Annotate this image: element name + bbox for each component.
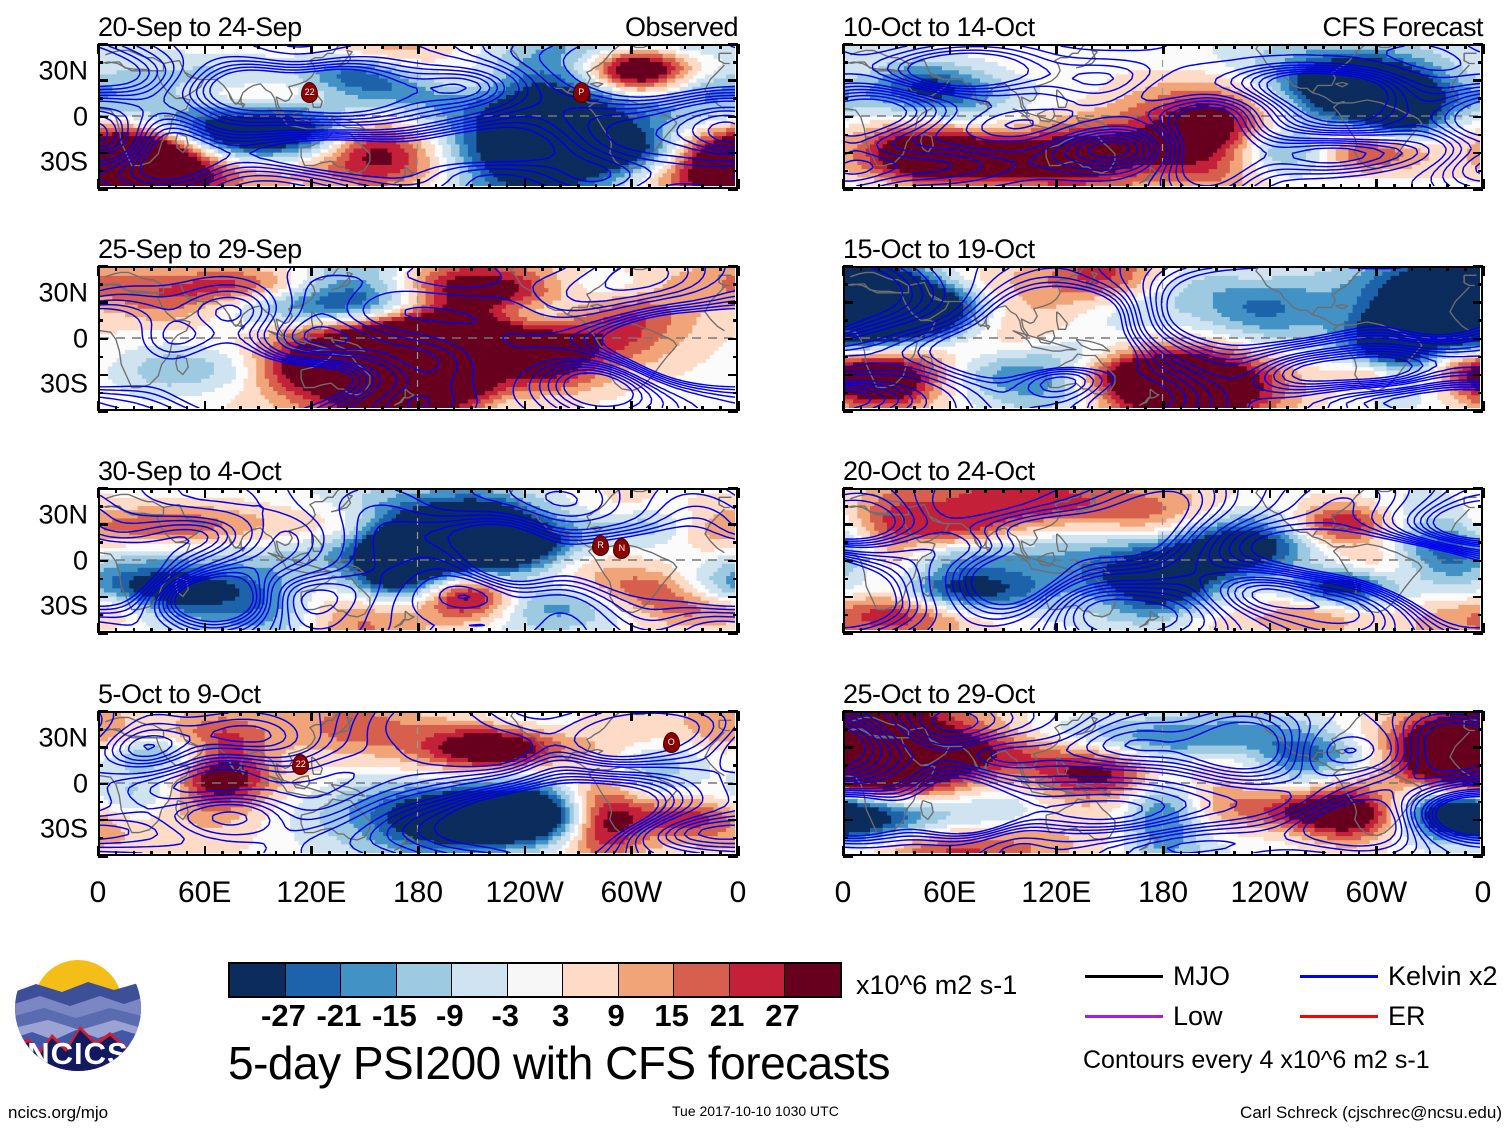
axis-tick (843, 746, 853, 749)
axis-tick (728, 79, 738, 82)
storm-marker[interactable]: P (573, 82, 590, 103)
axis-tick (1055, 488, 1058, 498)
axis-tick (1473, 783, 1483, 786)
axis-tick (984, 851, 987, 856)
axis-tick (895, 488, 898, 493)
axis-tick (648, 184, 651, 189)
map-panel: 10-Oct to 14-OctCFS Forecast (843, 44, 1483, 189)
legend-label: Low (1173, 1003, 1223, 1030)
colorbar-swatch (563, 964, 619, 996)
axis-tick (1020, 44, 1023, 49)
axis-tick (842, 488, 845, 498)
axis-tick (257, 628, 260, 633)
axis-tick (1144, 851, 1147, 856)
axis-tick (666, 184, 669, 189)
axis-tick (931, 266, 934, 271)
axis-tick (843, 578, 848, 581)
axis-tick (310, 401, 313, 411)
axis-tick (275, 44, 278, 49)
axis-tick (1473, 265, 1483, 268)
legend-line-swatch (1300, 1015, 1378, 1018)
axis-tick (1358, 44, 1361, 49)
axis-tick (98, 43, 108, 46)
axis-tick (931, 628, 934, 633)
axis-tick (1251, 406, 1254, 411)
contour-interval-note: Contours every 4 x10^6 m2 s-1 (1083, 1048, 1430, 1073)
axis-tick (595, 488, 598, 493)
axis-tick (860, 44, 863, 49)
axis-tick (98, 819, 108, 822)
axis-tick (1322, 628, 1325, 633)
axis-tick (1286, 711, 1289, 716)
axis-tick (1478, 541, 1483, 544)
axis-tick (98, 487, 108, 490)
axis-tick (488, 851, 491, 856)
axis-tick (1304, 266, 1307, 271)
map-plot-area[interactable] (98, 266, 738, 411)
axis-tick (239, 44, 242, 49)
map-plot-area[interactable] (843, 711, 1483, 856)
axis-tick (98, 97, 103, 100)
axis-tick (595, 44, 598, 49)
axis-tick (364, 266, 367, 271)
axis-tick (595, 711, 598, 716)
axis-tick (399, 628, 402, 633)
y-tick-label-30n: 30N (38, 58, 88, 85)
axis-tick (1162, 401, 1165, 411)
axis-tick (595, 406, 598, 411)
axis-tick (328, 184, 331, 189)
axis-tick (895, 711, 898, 716)
panel-title: 10-Oct to 14-Oct (843, 14, 1035, 41)
x-tick-label: 120W (485, 878, 563, 908)
axis-tick (843, 116, 853, 119)
footer-link[interactable]: ncics.org/mjo (8, 1104, 108, 1121)
axis-tick (239, 711, 242, 716)
axis-tick (613, 44, 616, 49)
axis-tick (1215, 266, 1218, 271)
axis-tick (984, 406, 987, 411)
axis-tick (1109, 711, 1112, 716)
axis-tick (1038, 851, 1041, 856)
axis-tick (1126, 628, 1129, 633)
axis-tick (150, 488, 153, 493)
axis-tick (1340, 628, 1343, 633)
axis-tick (1162, 179, 1165, 189)
axis-tick (1109, 851, 1112, 856)
axis-tick (293, 406, 296, 411)
axis-tick (257, 406, 260, 411)
axis-tick (328, 44, 331, 49)
y-tick-label-eq: 0 (73, 770, 88, 797)
axis-tick (701, 851, 704, 856)
axis-tick (1478, 392, 1483, 395)
axis-tick (1411, 406, 1414, 411)
axis-tick (613, 628, 616, 633)
axis-tick (1162, 44, 1165, 54)
axis-tick (399, 184, 402, 189)
map-plot-area[interactable]: RN (98, 488, 738, 633)
axis-tick (257, 184, 260, 189)
axis-tick (648, 628, 651, 633)
legend-entry[interactable]: MJO (1085, 963, 1230, 990)
axis-tick (630, 488, 633, 498)
axis-tick (1478, 97, 1483, 100)
axis-tick (984, 44, 987, 49)
axis-tick (1446, 488, 1449, 493)
axis-tick (843, 265, 853, 268)
axis-tick (1429, 266, 1432, 271)
axis-tick (98, 152, 108, 155)
axis-tick (1126, 266, 1129, 271)
axis-tick (1478, 578, 1483, 581)
axis-tick (186, 851, 189, 856)
axis-tick (1340, 851, 1343, 856)
axis-tick (966, 851, 969, 856)
axis-tick (1478, 134, 1483, 137)
axis-tick (98, 301, 108, 304)
axis-tick (150, 711, 153, 716)
axis-tick (1073, 44, 1076, 49)
legend-label: Kelvin x2 (1388, 963, 1498, 990)
axis-tick (728, 596, 738, 599)
axis-tick (666, 628, 669, 633)
axis-tick (728, 855, 738, 858)
axis-tick (1322, 406, 1325, 411)
axis-tick (1429, 184, 1432, 189)
axis-tick (453, 406, 456, 411)
axis-tick (1429, 711, 1432, 716)
axis-tick (1446, 406, 1449, 411)
axis-tick (613, 184, 616, 189)
axis-tick (966, 184, 969, 189)
axis-tick (98, 578, 103, 581)
axis-tick (399, 711, 402, 716)
axis-tick (98, 764, 103, 767)
axis-tick (843, 152, 853, 155)
colorbar-tick-label: -3 (491, 1000, 519, 1031)
axis-tick (1215, 184, 1218, 189)
axis-tick (524, 711, 527, 721)
axis-tick (843, 801, 848, 804)
axis-tick (843, 392, 848, 395)
axis-tick (1375, 401, 1378, 411)
axis-tick (204, 179, 207, 189)
axis-tick (150, 44, 153, 49)
axis-tick (115, 851, 118, 856)
axis-tick (719, 266, 722, 271)
axis-tick (1473, 596, 1483, 599)
axis-tick (1126, 851, 1129, 856)
axis-tick (346, 628, 349, 633)
axis-tick (1478, 614, 1483, 617)
axis-tick (728, 523, 738, 526)
axis-tick (1478, 728, 1483, 731)
axis-tick (860, 711, 863, 716)
axis-tick (1446, 44, 1449, 49)
axis-tick (275, 711, 278, 716)
axis-tick (293, 44, 296, 49)
axis-tick (728, 152, 738, 155)
axis-tick (328, 711, 331, 716)
axis-tick (98, 632, 108, 635)
ncics-logo-graphic: NCICS (14, 944, 142, 1072)
map-plot-area[interactable]: 22P (98, 44, 738, 189)
axis-tick (470, 711, 473, 716)
axis-tick (1180, 488, 1183, 493)
axis-tick (488, 488, 491, 493)
axis-tick (733, 170, 738, 173)
axis-tick (728, 43, 738, 46)
legend-line-swatch (1085, 975, 1163, 978)
axis-tick (310, 623, 313, 633)
axis-tick (186, 406, 189, 411)
axis-tick (310, 44, 313, 54)
panel-title: 5-Oct to 9-Oct (98, 681, 261, 708)
axis-tick (1020, 184, 1023, 189)
axis-tick (381, 488, 384, 493)
axis-tick (843, 560, 853, 563)
axis-tick (1340, 44, 1343, 49)
axis-tick (470, 406, 473, 411)
axis-tick (98, 728, 103, 731)
axis-tick (168, 711, 171, 716)
axis-tick (1473, 338, 1483, 341)
footer-author: Carl Schreck (cjschrec@ncsu.edu) (1240, 1104, 1502, 1121)
axis-tick (1091, 44, 1094, 49)
axis-tick (186, 628, 189, 633)
axis-tick (931, 406, 934, 411)
axis-tick (733, 505, 738, 508)
axis-tick (1304, 628, 1307, 633)
legend-entry[interactable]: Low (1085, 1003, 1223, 1030)
axis-tick (364, 184, 367, 189)
legend-entry[interactable]: ER (1300, 1003, 1426, 1030)
axis-tick (310, 711, 313, 721)
axis-tick (630, 623, 633, 633)
axis-tick (1091, 406, 1094, 411)
axis-tick (843, 134, 848, 137)
axis-tick (1020, 711, 1023, 716)
x-tick-label: 120E (1021, 878, 1091, 908)
legend-entry[interactable]: Kelvin x2 (1300, 963, 1498, 990)
axis-tick (931, 851, 934, 856)
axis-tick (506, 266, 509, 271)
x-tick-label: 0 (90, 878, 107, 908)
axis-tick (1473, 487, 1483, 490)
axis-tick (98, 783, 108, 786)
y-tick-label-eq: 0 (73, 325, 88, 352)
main-title: 5-day PSI200 with CFS forecasts (228, 1040, 890, 1086)
axis-tick (1393, 628, 1396, 633)
axis-tick (913, 851, 916, 856)
axis-tick (239, 406, 242, 411)
axis-tick (346, 184, 349, 189)
axis-tick (843, 710, 853, 713)
axis-tick (470, 184, 473, 189)
axis-tick (1091, 628, 1094, 633)
axis-tick (843, 319, 848, 322)
axis-tick (1482, 266, 1485, 276)
axis-tick (1055, 623, 1058, 633)
axis-tick (98, 265, 108, 268)
storm-marker[interactable]: R (592, 535, 609, 556)
axis-tick (648, 851, 651, 856)
axis-tick (843, 596, 853, 599)
axis-tick (115, 44, 118, 49)
axis-tick (728, 632, 738, 635)
axis-tick (1269, 179, 1272, 189)
map-panel: 20-Sep to 24-SepObserved22P30N030S (98, 44, 738, 189)
axis-tick (1482, 711, 1485, 721)
axis-tick (666, 44, 669, 49)
axis-tick (559, 628, 562, 633)
axis-tick (1478, 170, 1483, 173)
axis-tick (843, 505, 848, 508)
map-plot-area[interactable] (843, 488, 1483, 633)
axis-tick (150, 628, 153, 633)
footer-timestamp: Tue 2017-10-10 1030 UTC (672, 1103, 839, 1120)
axis-tick (470, 488, 473, 493)
axis-tick (328, 406, 331, 411)
axis-tick (328, 851, 331, 856)
axis-tick (133, 44, 136, 49)
axis-tick (559, 44, 562, 49)
axis-tick (1473, 710, 1483, 713)
axis-tick (1180, 44, 1183, 49)
colorbar-swatch (619, 964, 675, 996)
x-tick-label: 0 (835, 878, 852, 908)
axis-tick (168, 851, 171, 856)
axis-tick (346, 406, 349, 411)
axis-tick (488, 628, 491, 633)
axis-tick (733, 801, 738, 804)
axis-tick (453, 851, 456, 856)
axis-tick (168, 628, 171, 633)
x-tick-label: 60E (923, 878, 976, 908)
axis-tick (1215, 628, 1218, 633)
axis-tick (1091, 488, 1094, 493)
axis-tick (98, 116, 108, 119)
axis-tick (733, 541, 738, 544)
axis-tick (381, 406, 384, 411)
axis-tick (541, 488, 544, 493)
axis-tick (1269, 488, 1272, 498)
axis-tick (239, 628, 242, 633)
axis-tick (719, 184, 722, 189)
panel-title: 15-Oct to 19-Oct (843, 236, 1035, 263)
axis-tick (417, 623, 420, 633)
colorbar-units-label: x10^6 m2 s-1 (856, 972, 1017, 999)
axis-tick (733, 283, 738, 286)
axis-tick (98, 374, 108, 377)
axis-tick (1340, 711, 1343, 716)
axis-tick (186, 266, 189, 271)
axis-tick (1233, 851, 1236, 856)
axis-tick (1215, 406, 1218, 411)
axis-tick (1251, 266, 1254, 271)
axis-tick (115, 488, 118, 493)
axis-tick (524, 488, 527, 498)
axis-tick (1322, 44, 1325, 49)
axis-tick (733, 61, 738, 64)
storm-marker[interactable]: 22 (301, 82, 318, 103)
axis-tick (666, 851, 669, 856)
axis-tick (701, 628, 704, 633)
axis-tick (435, 184, 438, 189)
axis-tick (417, 711, 420, 721)
axis-tick (1251, 851, 1254, 856)
axis-tick (1091, 851, 1094, 856)
ncics-logo[interactable]: NCICS (14, 944, 142, 1072)
axis-tick (1180, 711, 1183, 716)
axis-tick (221, 184, 224, 189)
axis-tick (453, 266, 456, 271)
axis-tick (931, 44, 934, 49)
axis-tick (524, 44, 527, 54)
axis-tick (115, 184, 118, 189)
axis-tick (701, 266, 704, 271)
axis-tick (1055, 266, 1058, 276)
axis-tick (984, 184, 987, 189)
axis-tick (1020, 266, 1023, 271)
colorbar-tick-label: -21 (317, 1000, 362, 1031)
map-plot-area[interactable] (843, 266, 1483, 411)
storm-marker[interactable]: O (663, 732, 680, 753)
axis-tick (728, 560, 738, 563)
colorbar-swatch (452, 964, 508, 996)
axis-tick (860, 406, 863, 411)
axis-tick (843, 43, 853, 46)
axis-tick (613, 851, 616, 856)
axis-tick (133, 488, 136, 493)
axis-tick (966, 44, 969, 49)
axis-tick (204, 711, 207, 721)
axis-tick (1038, 266, 1041, 271)
axis-tick (913, 628, 916, 633)
axis-tick (239, 851, 242, 856)
axis-tick (1478, 61, 1483, 64)
axis-tick (1073, 851, 1076, 856)
axis-tick (913, 711, 916, 716)
axis-tick (399, 266, 402, 271)
axis-tick (1473, 855, 1483, 858)
map-plot-area[interactable]: 22O (98, 711, 738, 856)
axis-tick (275, 628, 278, 633)
legend-label: ER (1388, 1003, 1426, 1030)
axis-tick (204, 266, 207, 276)
panel-title: 30-Sep to 4-Oct (98, 458, 281, 485)
map-plot-area[interactable] (843, 44, 1483, 189)
axis-tick (1473, 152, 1483, 155)
axis-tick (895, 266, 898, 271)
y-tick-label-30n: 30N (38, 725, 88, 752)
axis-tick (843, 61, 848, 64)
axis-tick (133, 711, 136, 716)
axis-tick (1109, 184, 1112, 189)
axis-tick (843, 614, 848, 617)
axis-tick (1393, 266, 1396, 271)
axis-tick (150, 851, 153, 856)
axis-tick (168, 488, 171, 493)
axis-tick (364, 851, 367, 856)
axis-tick (843, 188, 853, 191)
axis-tick (1393, 488, 1396, 493)
axis-tick (1464, 711, 1467, 716)
axis-tick (1109, 488, 1112, 493)
axis-tick (435, 44, 438, 49)
axis-tick (541, 851, 544, 856)
